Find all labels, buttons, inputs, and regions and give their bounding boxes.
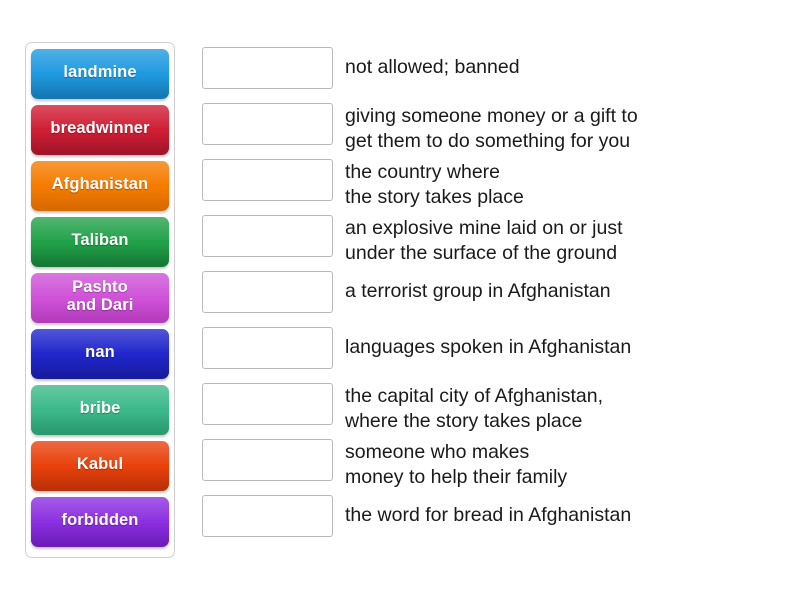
word-tile-label: breadwinner [50, 120, 149, 137]
word-tile-label: Kabul [77, 456, 123, 473]
definition-row-list: not allowed; bannedgiving someone money … [202, 47, 777, 551]
word-tile[interactable]: Afghanistan [31, 161, 169, 211]
answer-drop-box[interactable] [202, 327, 333, 369]
answer-drop-box[interactable] [202, 495, 333, 537]
word-tile-label: Pashto and Dari [67, 279, 134, 314]
definition-text: a terrorist group in Afghanistan [345, 271, 611, 304]
word-tile-label: Afghanistan [52, 176, 148, 193]
definition-row: a terrorist group in Afghanistan [202, 271, 777, 327]
definition-text: the country where the story takes place [345, 159, 524, 210]
answer-drop-box[interactable] [202, 215, 333, 257]
word-tile[interactable]: Pashto and Dari [31, 273, 169, 323]
definition-row: someone who makes money to help their fa… [202, 439, 777, 495]
definition-row: languages spoken in Afghanistan [202, 327, 777, 383]
definition-text: giving someone money or a gift to get th… [345, 103, 638, 154]
answer-drop-box[interactable] [202, 159, 333, 201]
word-tile[interactable]: landmine [31, 49, 169, 99]
definition-text: the capital city of Afghanistan, where t… [345, 383, 603, 434]
word-tile-label: nan [85, 344, 115, 361]
word-tile-list: landminebreadwinnerAfghanistanTalibanPas… [26, 49, 174, 547]
word-tile-label: bribe [80, 400, 121, 417]
definition-row: the capital city of Afghanistan, where t… [202, 383, 777, 439]
answer-drop-box[interactable] [202, 271, 333, 313]
match-up-activity: landminebreadwinnerAfghanistanTalibanPas… [0, 0, 800, 600]
definition-row: not allowed; banned [202, 47, 777, 103]
answer-drop-box[interactable] [202, 103, 333, 145]
definition-row: giving someone money or a gift to get th… [202, 103, 777, 159]
answer-drop-box[interactable] [202, 439, 333, 481]
word-tile[interactable]: nan [31, 329, 169, 379]
definition-text: not allowed; banned [345, 47, 520, 80]
word-tile-label: forbidden [62, 512, 139, 529]
word-tile[interactable]: bribe [31, 385, 169, 435]
answer-drop-box[interactable] [202, 383, 333, 425]
definition-row: the word for bread in Afghanistan [202, 495, 777, 551]
word-tile[interactable]: Kabul [31, 441, 169, 491]
definition-row: the country where the story takes place [202, 159, 777, 215]
definition-text: the word for bread in Afghanistan [345, 495, 631, 528]
word-tile[interactable]: breadwinner [31, 105, 169, 155]
word-tile[interactable]: Taliban [31, 217, 169, 267]
word-tile[interactable]: forbidden [31, 497, 169, 547]
word-tile-label: landmine [63, 64, 136, 81]
word-tile-panel: landminebreadwinnerAfghanistanTalibanPas… [25, 42, 175, 558]
word-tile-label: Taliban [71, 232, 128, 249]
definition-text: someone who makes money to help their fa… [345, 439, 567, 490]
definition-text: languages spoken in Afghanistan [345, 327, 631, 360]
definition-row: an explosive mine laid on or just under … [202, 215, 777, 271]
answer-drop-box[interactable] [202, 47, 333, 89]
definition-text: an explosive mine laid on or just under … [345, 215, 623, 266]
